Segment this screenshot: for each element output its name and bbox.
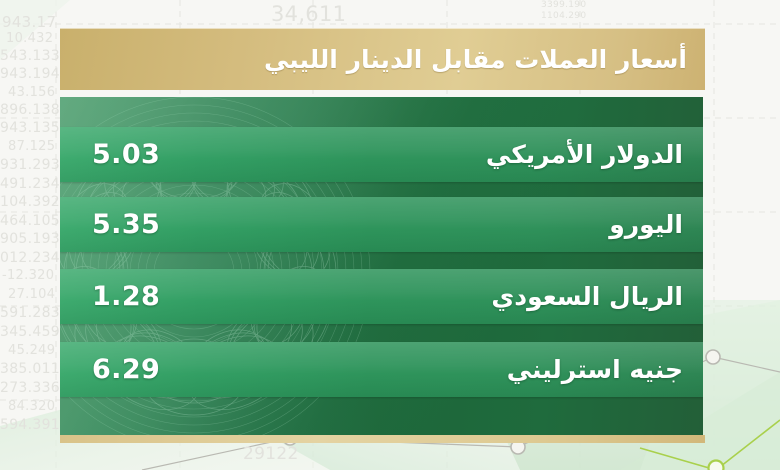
background-ticker-value: 84.320 — [8, 399, 55, 414]
currency-name-label: الدولار الأمريكي — [486, 142, 683, 167]
background-ticker-value: 943.194 — [0, 66, 60, 82]
background-ticker-value: 905.193 — [0, 231, 60, 247]
background-ticker-value: 273.336 — [0, 380, 60, 396]
currency-name-label: جنيه استرليني — [507, 357, 683, 382]
background-ticker-value: 34,611 — [271, 2, 346, 26]
table-row: 1.28الريال السعودي — [60, 269, 703, 324]
background-ticker-value: 896.138 — [0, 102, 60, 118]
background-ticker-value: 491.234 — [0, 176, 60, 192]
background-ticker-value: 29122 — [243, 444, 299, 464]
currency-rate-value: 5.35 — [92, 211, 160, 238]
background-ticker-value: 385.011 — [0, 361, 60, 377]
background-ticker-value: -12.320 — [2, 268, 54, 283]
table-row: 6.29جنيه استرليني — [60, 342, 703, 397]
background-ticker-value: 591.283 — [0, 305, 60, 321]
background-ticker-value: 012.234 — [0, 250, 60, 266]
rates-panel: 5.03الدولار الأمريكي5.35اليورو1.28الريال… — [60, 97, 703, 435]
table-row: 5.03الدولار الأمريكي — [60, 127, 703, 182]
background-ticker-value: 87.125 — [8, 139, 55, 154]
background-ticker-value: 931.293 — [0, 157, 60, 173]
background-ticker-value: 45.249 — [8, 343, 55, 358]
rates-row-list: 5.03الدولار الأمريكي5.35اليورو1.28الريال… — [60, 97, 703, 435]
table-row: 5.35اليورو — [60, 197, 703, 252]
currency-rate-value: 5.03 — [92, 141, 160, 168]
background-ticker-value: 543.133 — [0, 48, 60, 64]
card-title-bar: أسعار العملات مقابل الدينار الليبي — [60, 28, 705, 90]
background-ticker-value: 27.104 — [8, 287, 55, 302]
background-ticker-value: 464.105 — [0, 213, 60, 229]
background-ticker-value: 345.459 — [0, 324, 60, 340]
background-ticker-value: 943.17 — [2, 13, 56, 31]
card-foot-strip — [60, 435, 705, 443]
page-title: أسعار العملات مقابل الدينار الليبي — [264, 47, 687, 72]
currency-rate-value: 1.28 — [92, 283, 160, 310]
background-ticker-value: 594.391 — [0, 417, 60, 433]
background-ticker-value: 104.392 — [0, 194, 60, 210]
currency-name-label: اليورو — [609, 212, 683, 237]
currency-name-label: الريال السعودي — [491, 284, 683, 309]
background-ticker-value: 3399.190 — [541, 0, 586, 10]
currency-rate-value: 6.29 — [92, 356, 160, 383]
currency-rates-card: أسعار العملات مقابل الدينار الليبي — [60, 28, 705, 443]
background-ticker-value: 43.156 — [8, 85, 55, 100]
background-ticker-value: 1104.290 — [541, 11, 586, 21]
background-ticker-value: 10.432 — [6, 31, 53, 46]
background-ticker-value: 943.135 — [0, 120, 60, 136]
